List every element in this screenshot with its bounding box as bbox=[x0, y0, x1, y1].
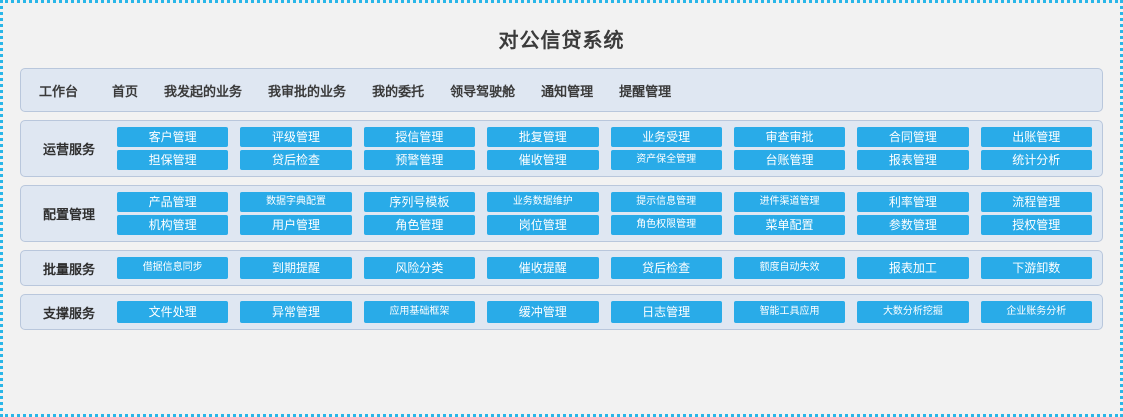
module-button[interactable]: 报表加工 bbox=[857, 257, 968, 279]
module-button[interactable]: 授信管理 bbox=[364, 127, 475, 147]
module-button-grid-1: 产品管理数据字典配置序列号模板业务数据维护提示信息管理进件渠道管理利率管理流程管… bbox=[117, 192, 1092, 235]
module-button[interactable]: 文件处理 bbox=[117, 301, 228, 323]
module-label-1: 配置管理 bbox=[21, 204, 117, 223]
page-title: 对公信贷系统 bbox=[499, 24, 625, 53]
module-panel-3: 支撑服务文件处理异常管理应用基础框架缓冲管理日志管理智能工具应用大数分析挖掘企业… bbox=[20, 294, 1103, 330]
module-button-grid-2: 借据信息同步到期提醒风险分类催收提醒贷后检查额度自动失效报表加工下游卸数 bbox=[117, 257, 1092, 279]
module-button[interactable]: 业务数据维护 bbox=[487, 192, 598, 212]
module-label-2: 批量服务 bbox=[21, 259, 117, 278]
nav-item-2[interactable]: 我发起的业务 bbox=[164, 81, 242, 100]
module-button[interactable]: 角色权限管理 bbox=[611, 215, 722, 235]
module-button[interactable]: 额度自动失效 bbox=[734, 257, 845, 279]
module-button[interactable]: 风险分类 bbox=[364, 257, 475, 279]
nav-item-6[interactable]: 通知管理 bbox=[541, 81, 593, 100]
main-navigation: 工作台首页我发起的业务我审批的业务我的委托领导驾驶舱通知管理提醒管理 bbox=[20, 68, 1103, 112]
module-button[interactable]: 下游卸数 bbox=[981, 257, 1092, 279]
nav-item-3[interactable]: 我审批的业务 bbox=[268, 81, 346, 100]
module-button[interactable]: 数据字典配置 bbox=[240, 192, 351, 212]
module-button[interactable]: 企业账务分析 bbox=[981, 301, 1092, 323]
module-button[interactable]: 日志管理 bbox=[611, 301, 722, 323]
module-button[interactable]: 菜单配置 bbox=[734, 215, 845, 235]
module-panel-1: 配置管理产品管理数据字典配置序列号模板业务数据维护提示信息管理进件渠道管理利率管… bbox=[20, 185, 1103, 242]
app-window: 对公信贷系统 工作台首页我发起的业务我审批的业务我的委托领导驾驶舱通知管理提醒管… bbox=[0, 0, 1123, 417]
module-button[interactable]: 序列号模板 bbox=[364, 192, 475, 212]
nav-item-4[interactable]: 我的委托 bbox=[372, 81, 424, 100]
module-button[interactable]: 到期提醒 bbox=[240, 257, 351, 279]
module-panel-2: 批量服务借据信息同步到期提醒风险分类催收提醒贷后检查额度自动失效报表加工下游卸数 bbox=[20, 250, 1103, 286]
module-button[interactable]: 利率管理 bbox=[857, 192, 968, 212]
module-button[interactable]: 资产保全管理 bbox=[611, 150, 722, 170]
module-button-grid-0: 客户管理评级管理授信管理批复管理业务受理审查审批合同管理出账管理担保管理贷后检查… bbox=[117, 127, 1092, 170]
module-button[interactable]: 机构管理 bbox=[117, 215, 228, 235]
module-button[interactable]: 产品管理 bbox=[117, 192, 228, 212]
module-button[interactable]: 贷后检查 bbox=[240, 150, 351, 170]
module-button[interactable]: 预警管理 bbox=[364, 150, 475, 170]
module-button[interactable]: 贷后检查 bbox=[611, 257, 722, 279]
module-button[interactable]: 业务受理 bbox=[611, 127, 722, 147]
module-button-grid-3: 文件处理异常管理应用基础框架缓冲管理日志管理智能工具应用大数分析挖掘企业账务分析 bbox=[117, 301, 1092, 323]
module-button[interactable]: 异常管理 bbox=[240, 301, 351, 323]
module-label-3: 支撑服务 bbox=[21, 303, 117, 322]
module-sections: 运营服务客户管理评级管理授信管理批复管理业务受理审查审批合同管理出账管理担保管理… bbox=[8, 120, 1115, 330]
nav-item-0[interactable]: 工作台 bbox=[39, 81, 78, 100]
module-panel-0: 运营服务客户管理评级管理授信管理批复管理业务受理审查审批合同管理出账管理担保管理… bbox=[20, 120, 1103, 177]
nav-item-7[interactable]: 提醒管理 bbox=[619, 81, 671, 100]
module-button[interactable]: 授权管理 bbox=[981, 215, 1092, 235]
module-button[interactable]: 岗位管理 bbox=[487, 215, 598, 235]
module-button[interactable]: 催收提醒 bbox=[487, 257, 598, 279]
module-button[interactable]: 角色管理 bbox=[364, 215, 475, 235]
module-button[interactable]: 催收管理 bbox=[487, 150, 598, 170]
module-button[interactable]: 智能工具应用 bbox=[734, 301, 845, 323]
app-content: 对公信贷系统 工作台首页我发起的业务我审批的业务我的委托领导驾驶舱通知管理提醒管… bbox=[8, 8, 1115, 409]
module-button[interactable]: 大数分析挖掘 bbox=[857, 301, 968, 323]
nav-item-1[interactable]: 首页 bbox=[112, 81, 138, 100]
module-button[interactable]: 台账管理 bbox=[734, 150, 845, 170]
module-button[interactable]: 借据信息同步 bbox=[117, 257, 228, 279]
module-button[interactable]: 批复管理 bbox=[487, 127, 598, 147]
module-button[interactable]: 担保管理 bbox=[117, 150, 228, 170]
page-header: 对公信贷系统 bbox=[8, 8, 1115, 68]
module-button[interactable]: 统计分析 bbox=[981, 150, 1092, 170]
module-button[interactable]: 报表管理 bbox=[857, 150, 968, 170]
module-button[interactable]: 审查审批 bbox=[734, 127, 845, 147]
module-label-0: 运营服务 bbox=[21, 139, 117, 158]
module-button[interactable]: 应用基础框架 bbox=[364, 301, 475, 323]
module-button[interactable]: 出账管理 bbox=[981, 127, 1092, 147]
module-button[interactable]: 用户管理 bbox=[240, 215, 351, 235]
module-button[interactable]: 提示信息管理 bbox=[611, 192, 722, 212]
nav-item-5[interactable]: 领导驾驶舱 bbox=[450, 81, 515, 100]
module-button[interactable]: 评级管理 bbox=[240, 127, 351, 147]
module-button[interactable]: 进件渠道管理 bbox=[734, 192, 845, 212]
module-button[interactable]: 流程管理 bbox=[981, 192, 1092, 212]
module-button[interactable]: 参数管理 bbox=[857, 215, 968, 235]
module-button[interactable]: 缓冲管理 bbox=[487, 301, 598, 323]
module-button[interactable]: 合同管理 bbox=[857, 127, 968, 147]
module-button[interactable]: 客户管理 bbox=[117, 127, 228, 147]
